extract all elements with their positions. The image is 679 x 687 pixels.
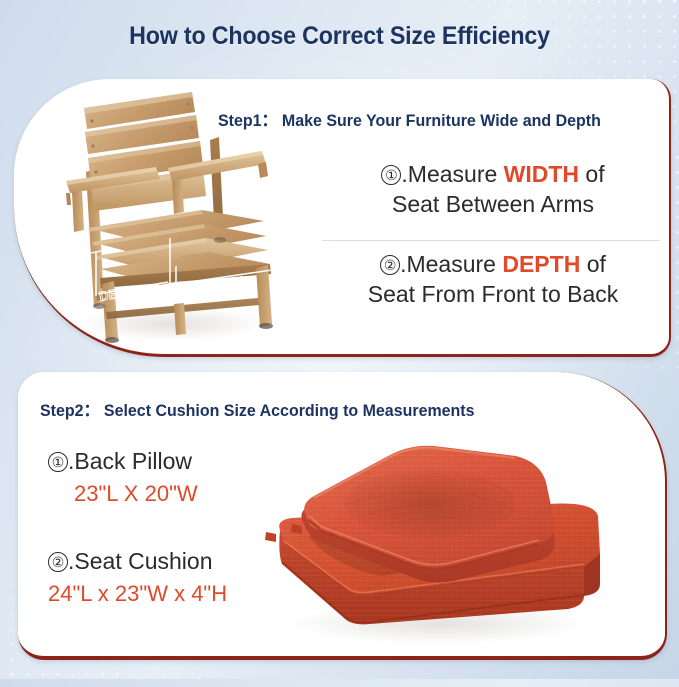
instruction-1-suffix: of <box>579 161 605 187</box>
instruction-1-keyword: WIDTH <box>504 161 579 187</box>
step1-heading: Step1： Make Sure Your Furniture Wide and… <box>218 106 601 131</box>
instruction-2-line2: Seat From Front to Back <box>318 280 668 310</box>
seat-cushion-size: 24"L x 23"W x 4"H <box>48 581 227 607</box>
cushion-spec-seat-cushion: ②.Seat Cushion 24"L x 23"W x 4"H <box>48 548 227 607</box>
instruction-2-suffix: of <box>580 251 606 277</box>
cushion-spec-back-pillow: ①.Back Pillow 23"L X 20"W <box>48 448 198 507</box>
step1-instruction-2: ②.Measure DEPTH of Seat From Front to Ba… <box>318 250 668 310</box>
instruction-2-keyword: DEPTH <box>502 251 580 277</box>
back-pillow-label: .Back Pillow <box>68 448 192 474</box>
circled-number-2: ② <box>48 552 68 572</box>
instruction-2-prefix: .Measure <box>400 251 502 277</box>
stacked-cushions-illustration <box>262 408 610 648</box>
step1-instruction-1: ①.Measure WIDTH of Seat Between Arms <box>318 160 668 220</box>
step2-heading: Step2： Select Cushion Size According to … <box>40 396 475 421</box>
instruction-1-prefix: .Measure <box>401 161 503 187</box>
circled-number-1: ① <box>48 452 68 472</box>
circled-number-1: ① <box>381 165 401 185</box>
page-title: How to Choose Correct Size Efficiency <box>24 22 655 51</box>
back-pillow-size: 23"L X 20"W <box>48 481 198 507</box>
circled-number-2: ② <box>380 255 400 275</box>
instruction-1-line2: Seat Between Arms <box>318 190 668 220</box>
seat-cushion-label: .Seat Cushion <box>68 548 212 574</box>
instruction-divider <box>322 240 660 241</box>
